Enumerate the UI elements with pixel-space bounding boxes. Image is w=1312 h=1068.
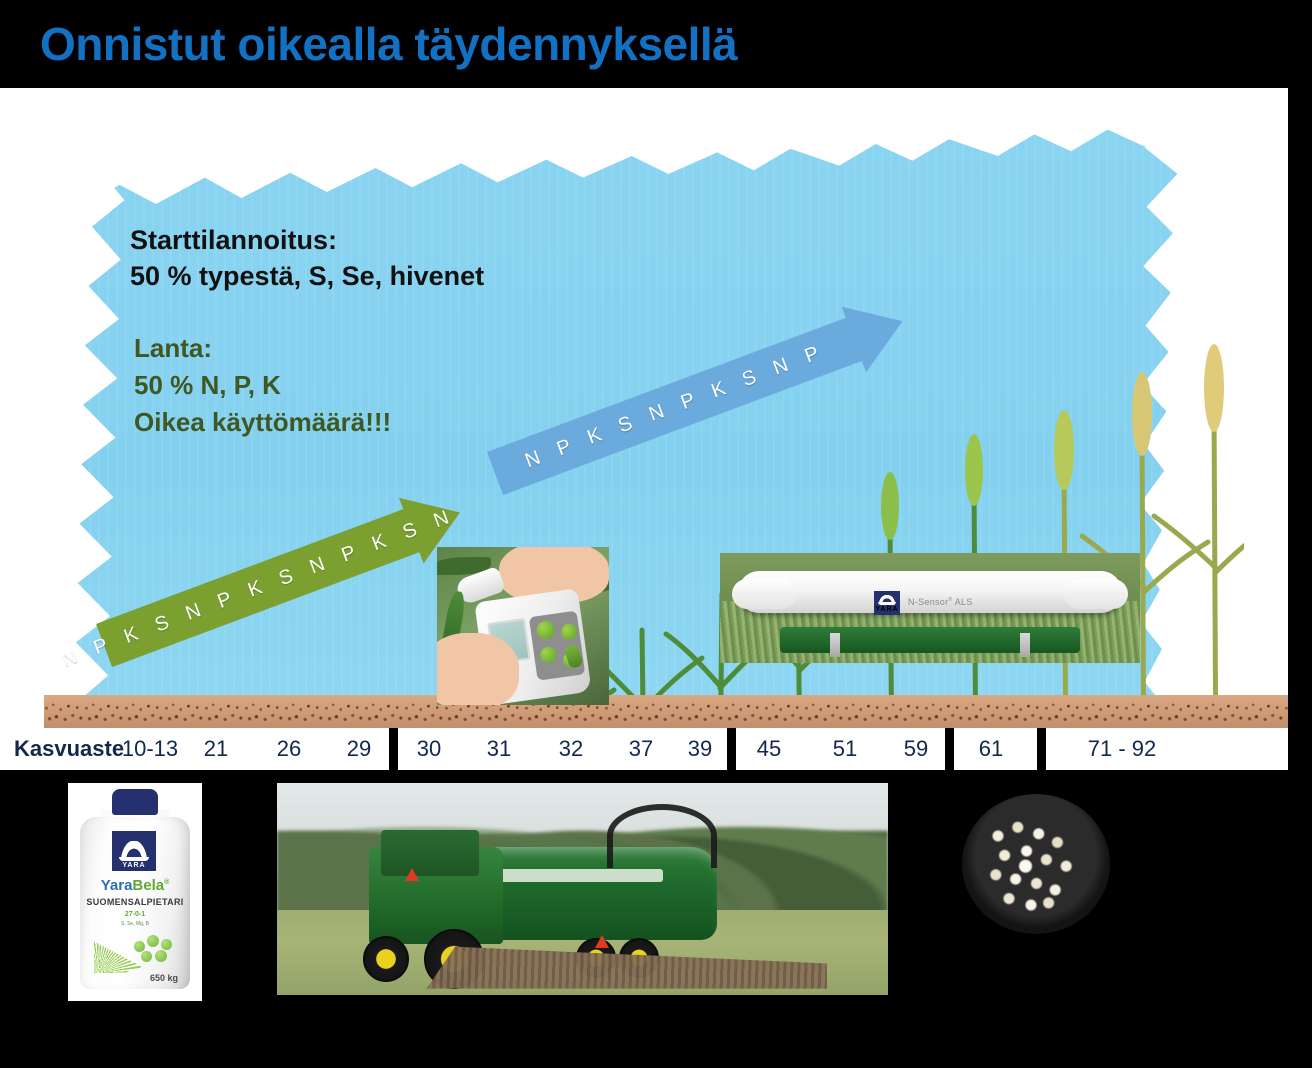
n-sensor-photo: YARA N-Sensor® ALS xyxy=(720,553,1140,663)
bag-npk-value: 27-0-1 xyxy=(80,911,190,918)
granules-photo xyxy=(950,794,1122,934)
tractor-front-wheel xyxy=(363,936,409,982)
registered-mark: ® xyxy=(164,879,169,886)
tractor-cab xyxy=(381,830,479,877)
granule-dot xyxy=(147,935,159,947)
fertilizer-bag-photo: YARA YaraBela® SUOMENSALPIETARI 27-0-1 S… xyxy=(68,783,202,1001)
slurry-tanker-photo xyxy=(277,783,888,995)
yara-sail-icon xyxy=(121,841,147,857)
n-sensor-model-label: N-Sensor® ALS xyxy=(908,597,973,607)
granule-dot xyxy=(161,939,172,950)
n-sensor-unit: YARA N-Sensor® ALS xyxy=(738,571,1122,613)
start-fertilization-callout: Starttilannoitus: 50 % typestä, S, Se, h… xyxy=(130,222,484,295)
yara-sail-icon xyxy=(879,595,895,602)
growth-stage-12: 61 xyxy=(979,736,1003,762)
granule-dot xyxy=(155,950,167,962)
bag-body: YARA YaraBela® SUOMENSALPIETARI 27-0-1 S… xyxy=(80,817,190,989)
growth-stage-5: 31 xyxy=(487,736,511,762)
growth-stage-8: 39 xyxy=(688,736,712,762)
registered-mark: ® xyxy=(948,597,952,603)
growth-stage-11: 59 xyxy=(904,736,928,762)
growth-stage-1: 21 xyxy=(204,736,228,762)
growth-stage-0: 10-13 xyxy=(122,736,178,762)
growth-stage-9: 45 xyxy=(757,736,781,762)
n-sensor-pod-left xyxy=(732,579,796,609)
growth-stage-scale: Kasvuaste 10-13 21 26 29 30 31 32 37 39 … xyxy=(0,728,1288,774)
page-title: Onnistut oikealla täydennyksellä xyxy=(40,17,737,71)
bag-micronutrients: S, Se, Mg, B xyxy=(80,921,190,927)
manure-heading: Lanta: xyxy=(134,330,391,367)
warning-triangle-rear xyxy=(595,935,609,948)
manure-callout: Lanta: 50 % N, P, K Oikea käyttömäärä!!! xyxy=(134,330,391,441)
bag-product-name: SUOMENSALPIETARI xyxy=(80,897,190,907)
bag-brand-name: YaraBela® xyxy=(80,877,190,894)
manure-line-2: 50 % N, P, K xyxy=(134,367,391,404)
yara-logo-bag: YARA xyxy=(112,831,156,871)
tractor-roof xyxy=(780,627,1080,653)
n-sensor-model-variant: ALS xyxy=(955,597,973,607)
suction-hose xyxy=(607,804,717,868)
bottom-photo-strip: YARA YaraBela® SUOMENSALPIETARI 27-0-1 S… xyxy=(0,774,1312,1068)
bag-brand-prefix: Yara xyxy=(101,877,133,894)
bag-weight: 650 kg xyxy=(150,973,178,983)
granule-dot xyxy=(134,941,145,952)
hand-lower xyxy=(437,633,519,705)
start-fertilization-heading: Starttilannoitus: xyxy=(130,222,484,258)
n-tester-photo xyxy=(437,547,609,705)
bag-lifting-loop xyxy=(112,789,158,815)
granule-dot xyxy=(141,951,152,962)
yara-logo-sensor: YARA xyxy=(874,591,900,615)
stage-divider-4 xyxy=(1037,728,1046,770)
growth-stage-3: 29 xyxy=(347,736,371,762)
start-fertilization-detail: 50 % typestä, S, Se, hivenet xyxy=(130,258,484,294)
growth-stage-4: 30 xyxy=(417,736,441,762)
manure-line-3: Oikea käyttömäärä!!! xyxy=(134,404,391,441)
growth-stage-10: 51 xyxy=(833,736,857,762)
n-sensor-model-name: N-Sensor xyxy=(908,597,948,607)
granule-heap xyxy=(976,810,1086,918)
warning-triangle-front xyxy=(405,868,419,881)
title-bar: Onnistut oikealla täydennyksellä xyxy=(0,0,1312,88)
growth-stage-7: 37 xyxy=(629,736,653,762)
stage-divider-1 xyxy=(389,728,398,770)
content-card: Starttilannoitus: 50 % typestä, S, Se, h… xyxy=(0,88,1288,774)
n-sensor-pod-right xyxy=(1064,579,1128,609)
stage-divider-2 xyxy=(727,728,736,770)
bag-granule-graphic xyxy=(134,935,176,963)
soil-strip xyxy=(44,695,1288,728)
stage-divider-3 xyxy=(945,728,954,770)
yara-wordmark: YARA xyxy=(122,861,145,871)
yara-wordmark: YARA xyxy=(875,605,898,615)
growth-stage-label: Kasvuaste xyxy=(14,736,124,762)
growth-stage-2: 26 xyxy=(277,736,301,762)
slide-canvas: Onnistut oikealla täydennyksellä xyxy=(0,0,1312,1068)
bag-brand-suffix: Bela xyxy=(132,877,164,894)
sensor-mount-right xyxy=(1020,633,1030,657)
growth-stage-13: 71 - 92 xyxy=(1088,736,1157,762)
growth-stage-6: 32 xyxy=(559,736,583,762)
crop-growth-illustration xyxy=(44,238,1244,774)
sensor-mount-left xyxy=(830,633,840,657)
